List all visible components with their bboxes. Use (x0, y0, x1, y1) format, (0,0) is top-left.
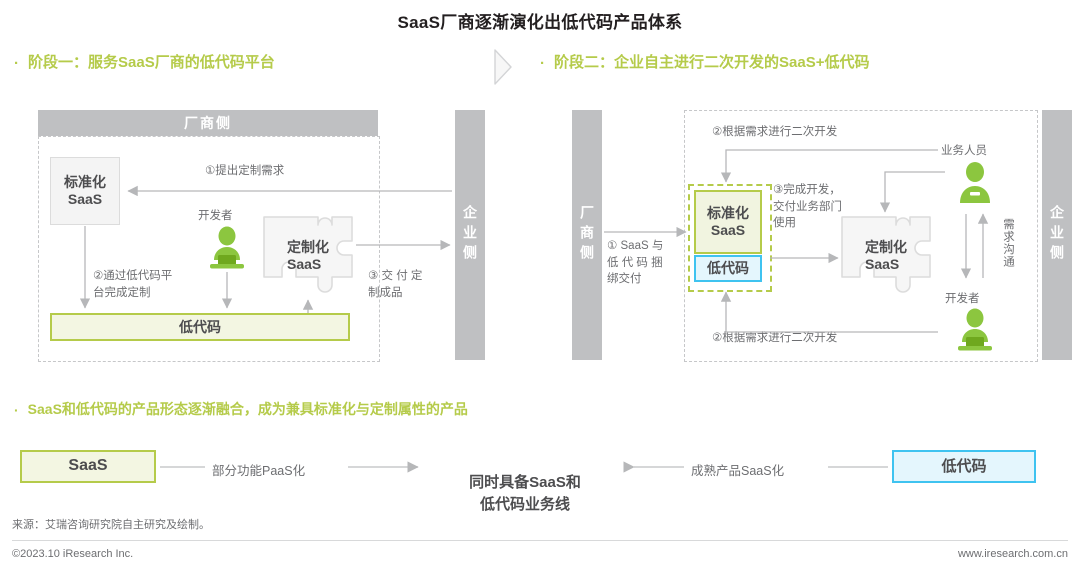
copyright-text: ©2023.10 iResearch Inc. (12, 548, 133, 560)
source-note: 来源：艾瑞咨询研究院自主研究及绘制。 (12, 516, 210, 532)
bottom-flow-arrows (0, 0, 1080, 567)
footer-divider (12, 540, 1068, 541)
slide-canvas: SaaS厂商逐渐演化出低代码产品体系 ·阶段一：服务SaaS厂商的低代码平台 ·… (0, 0, 1080, 567)
website-link[interactable]: www.iresearch.com.cn (958, 548, 1068, 560)
